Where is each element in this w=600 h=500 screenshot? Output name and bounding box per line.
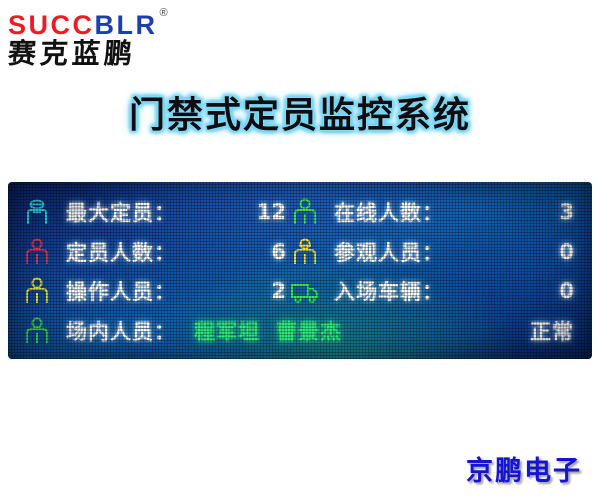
led-value: 0 — [559, 279, 578, 303]
person-icon — [290, 197, 320, 227]
occupant-name-list: 程军坦 曹景杰 — [194, 316, 342, 346]
led-value: 0 — [559, 240, 578, 264]
led-value: 2 — [271, 279, 290, 303]
led-label: 参观人员： — [334, 237, 444, 267]
led-row-occupants: 场内人员： 程军坦 曹景杰 正常 — [22, 311, 578, 351]
person-visitor-icon — [290, 237, 320, 267]
logo-chinese-name: 赛克蓝鹏 — [7, 37, 229, 71]
led-label: 操作人员： — [66, 276, 176, 306]
list-item: 程军坦 — [194, 316, 260, 346]
led-field-quota-count: 定员人数： 6 — [22, 237, 290, 267]
led-field-max-capacity: 最大定员： 12 — [22, 197, 290, 227]
led-field-vehicles-entered: 入场车辆： 0 — [290, 276, 578, 306]
led-row: 最大定员： 12 在线人数： 3 — [22, 192, 578, 232]
logo-wordmark-red: SUCC — [8, 10, 95, 40]
person-worker-icon — [22, 276, 52, 306]
truck-icon — [290, 276, 320, 306]
status-badge: 正常 — [530, 316, 578, 346]
led-row: 操作人员： 2 入场车辆： 0 — [22, 272, 578, 312]
led-label: 入场车辆： — [334, 276, 444, 306]
led-row: 定员人数： 6 参观人员： 0 — [22, 232, 578, 272]
led-label: 最大定员： — [66, 197, 176, 227]
led-value: 6 — [271, 240, 290, 264]
person-icon — [22, 316, 52, 346]
led-field-online-count: 在线人数： 3 — [290, 197, 578, 227]
list-item: 曹景杰 — [276, 316, 342, 346]
led-value: 12 — [257, 200, 290, 224]
person-with-cap-icon — [22, 197, 52, 227]
led-field-operator-count: 操作人员： 2 — [22, 276, 290, 306]
led-label: 场内人员： — [66, 316, 176, 346]
person-icon — [22, 237, 52, 267]
logo-wordmark: SUCCBLR® — [8, 6, 228, 36]
footer-company-name: 京鹏电子 — [466, 449, 582, 488]
brand-logo: SUCCBLR® 赛克蓝鹏 — [8, 6, 228, 72]
led-field-visitor-count: 参观人员： 0 — [290, 237, 578, 267]
page-title: 门禁式定员监控系统 — [0, 86, 600, 138]
led-display-panel: 最大定员： 12 在线人数： 3 — [8, 182, 592, 359]
led-panel-content: 最大定员： 12 在线人数： 3 — [8, 182, 592, 359]
led-value: 3 — [559, 200, 578, 224]
led-label: 定员人数： — [66, 237, 176, 267]
led-label: 在线人数： — [334, 197, 444, 227]
registered-trademark-icon: ® — [160, 7, 168, 19]
logo-wordmark-blue: BLR — [95, 10, 158, 40]
